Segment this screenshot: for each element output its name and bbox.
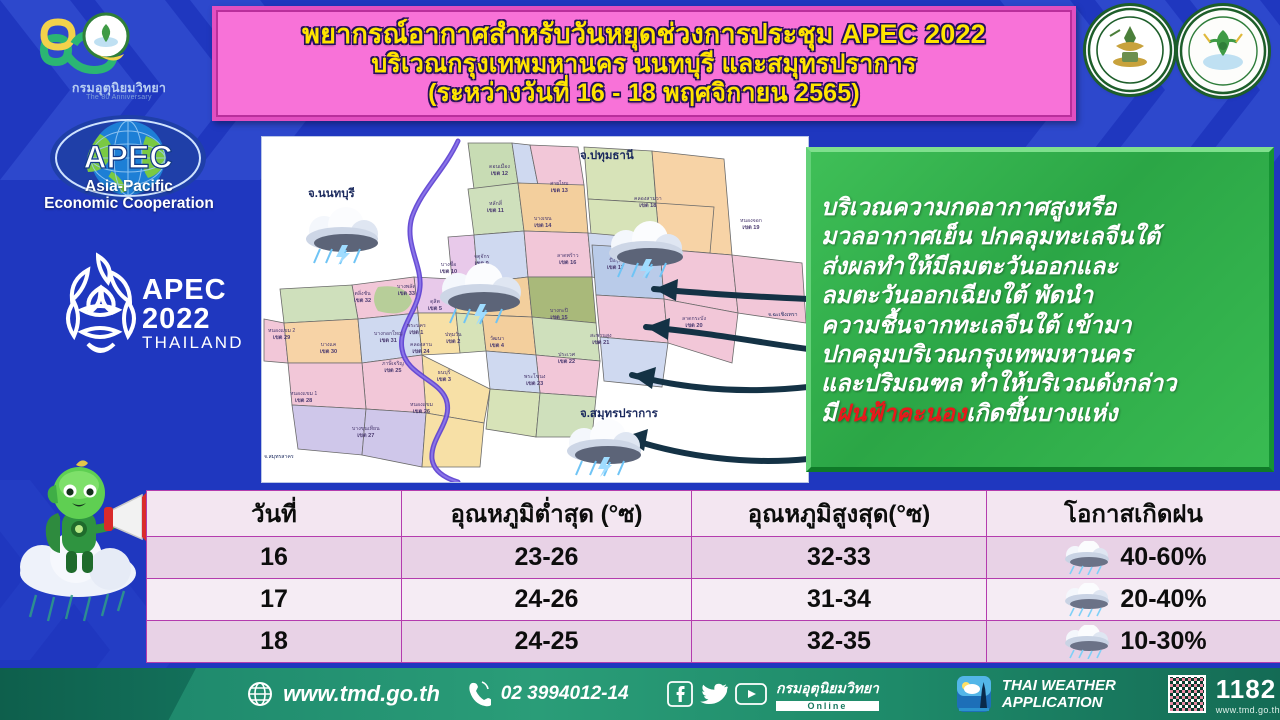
summary-line-5: ความชื้นจากทะเลจีนใต้ เข้ามา xyxy=(821,311,1261,340)
footer-phone[interactable]: 02 3994012-14 xyxy=(465,668,667,720)
footer-thai-weather-app[interactable]: THAI WEATHER APPLICATION xyxy=(956,668,1168,720)
youtube-icon[interactable] xyxy=(735,681,767,707)
website-url[interactable]: www.tmd.go.th xyxy=(283,681,440,707)
weather-summary-panel: บริเวณความกดอากาศสูงหรือมวลอากาศเย็น ปกค… xyxy=(806,147,1274,472)
table-body: 1623-2632-3340-60%1724-2631-3420-40%1824… xyxy=(147,537,1280,663)
rain-cloud-icon xyxy=(1060,583,1112,617)
rain-cloud-icon xyxy=(1060,541,1112,575)
weather-summary-text: บริเวณความกดอากาศสูงหรือมวลอากาศเย็น ปกค… xyxy=(821,193,1261,429)
apec-2022-line-3: THAILAND xyxy=(142,334,262,351)
summary-line-4: ลมตะวันออกเฉียงใต้ พัดนำ xyxy=(821,281,1261,310)
phone-icon xyxy=(465,680,491,708)
apec-2022-wordmark: APEC 2022 THAILAND xyxy=(142,276,262,351)
apec-subtitle: Asia-Pacific Economic Cooperation xyxy=(0,178,258,213)
qr-code-icon xyxy=(1168,675,1206,713)
phone-number[interactable]: 02 3994012-14 xyxy=(501,683,629,705)
rain-cloud-icon xyxy=(1060,625,1112,659)
app-line-1: THAI WEATHER xyxy=(1002,677,1116,694)
cell-date: 16 xyxy=(147,537,402,579)
svg-text:APEC: APEC xyxy=(84,139,173,175)
title-banner: พยากรณ์อากาศสำหรับวันหยุดช่วงการประชุม A… xyxy=(212,6,1076,121)
title-line-3: (ระหว่างวันที่ 16 - 18 พฤศจิกายน 2565) xyxy=(428,79,860,108)
column-header-tmax: อุณหภูมิสูงสุด(°ซ) xyxy=(692,491,987,537)
cell-tmin: 23-26 xyxy=(402,537,692,579)
column-header-date: วันที่ xyxy=(147,491,402,537)
table-row: 1724-2631-3420-40% xyxy=(147,579,1280,621)
summary-line-1: บริเวณความกดอากาศสูงหรือ xyxy=(821,193,1261,222)
globe-icon xyxy=(247,681,273,707)
column-header-tmin: อุณหภูมิต่ำสุด (°ซ) xyxy=(402,491,692,537)
apec-subtitle-line-2: Economic Cooperation xyxy=(0,195,258,212)
cell-date: 17 xyxy=(147,579,402,621)
ministry-digital-economy-seal-icon xyxy=(1086,6,1174,94)
tmd-80th-anniversary-logo: กรมอุตุนิยมวิทยา The 80 Anniversary xyxy=(34,4,204,110)
apec-2022-line-1: APEC xyxy=(142,276,262,305)
facebook-icon[interactable] xyxy=(667,681,693,707)
summary-line-2: มวลอากาศเย็น ปกคลุมทะเลจีนใต้ xyxy=(821,222,1261,251)
cell-tmin: 24-25 xyxy=(402,621,692,663)
tmd-mascot-with-megaphone xyxy=(6,455,156,630)
digital-platform-tag xyxy=(0,668,196,720)
table-row: 1824-2532-3510-30% xyxy=(147,621,1280,663)
anniversary-caption-en: The 80 Anniversary xyxy=(34,94,204,101)
cell-tmax: 32-35 xyxy=(692,621,987,663)
cell-tmin: 24-26 xyxy=(402,579,692,621)
table-row: 1623-2632-3340-60% xyxy=(147,537,1280,579)
apec-subtitle-line-1: Asia-Pacific xyxy=(0,178,258,195)
rain-probability-value: 10-30% xyxy=(1120,627,1206,656)
summary-line-8: มีฝนฟ้าคะนองเกิดขึ้นบางแห่ง xyxy=(821,399,1261,428)
app-line-2: APPLICATION xyxy=(1002,694,1116,711)
cell-tmax: 32-33 xyxy=(692,537,987,579)
cell-rain: 20-40% xyxy=(987,579,1280,621)
footer-hotline[interactable]: 1182 www.tmd.go.th xyxy=(1168,668,1280,720)
infographic-canvas: พยากรณ์อากาศสำหรับวันหยุดช่วงการประชุม A… xyxy=(0,0,1280,720)
thai-weather-app-icon xyxy=(956,675,992,713)
hotline-number: 1182 xyxy=(1216,674,1280,705)
hotline-subtext: www.tmd.go.th xyxy=(1216,705,1280,715)
bangkok-metropolitan-map[interactable]: จ.นนทบุรี จ.ปทุมธานี จ.สมุทรปราการ จ.ฉะเ… xyxy=(262,137,808,482)
summary-line-7: และปริมณฑล ทำให้บริเวณดังกล่าว xyxy=(821,369,1261,398)
footer-website[interactable]: www.tmd.go.th xyxy=(223,668,465,720)
meteorological-department-seal-icon xyxy=(1178,6,1268,96)
rain-probability-value: 20-40% xyxy=(1120,585,1206,614)
social-online-badge: Online xyxy=(776,701,879,711)
cell-date: 18 xyxy=(147,621,402,663)
column-header-rain: โอกาสเกิดฝน xyxy=(987,491,1280,537)
apec-2022-line-2: 2022 xyxy=(142,305,262,334)
cell-rain: 10-30% xyxy=(987,621,1280,663)
forecast-table[interactable]: วันที่ อุณหภูมิต่ำสุด (°ซ) อุณหภูมิสูงสุ… xyxy=(146,490,1280,663)
summary-line-6: ปกคลุมบริเวณกรุงเทพมหานคร xyxy=(821,340,1261,369)
footer-social[interactable]: กรมอุตุนิยมวิทยา Online xyxy=(667,668,956,720)
social-label-th: กรมอุตุนิยมวิทยา xyxy=(776,678,879,700)
cell-rain: 40-60% xyxy=(987,537,1280,579)
map-svg xyxy=(262,137,808,482)
rain-probability-value: 40-60% xyxy=(1120,543,1206,572)
footer-bar: DIGITAL PLATFORM www.tmd.go.th 02 399401… xyxy=(0,668,1280,720)
title-line-2: บริเวณกรุงเทพมหานคร นนทบุรี และสมุทรปราก… xyxy=(371,50,916,79)
summary-line-3: ส่งผลทำให้มีลมตะวันออกและ xyxy=(821,252,1261,281)
twitter-icon[interactable] xyxy=(700,681,728,707)
table-header-row: วันที่ อุณหภูมิต่ำสุด (°ซ) อุณหภูมิสูงสุ… xyxy=(147,491,1280,537)
title-line-1: พยากรณ์อากาศสำหรับวันหยุดช่วงการประชุม A… xyxy=(302,19,986,50)
cell-tmax: 31-34 xyxy=(692,579,987,621)
